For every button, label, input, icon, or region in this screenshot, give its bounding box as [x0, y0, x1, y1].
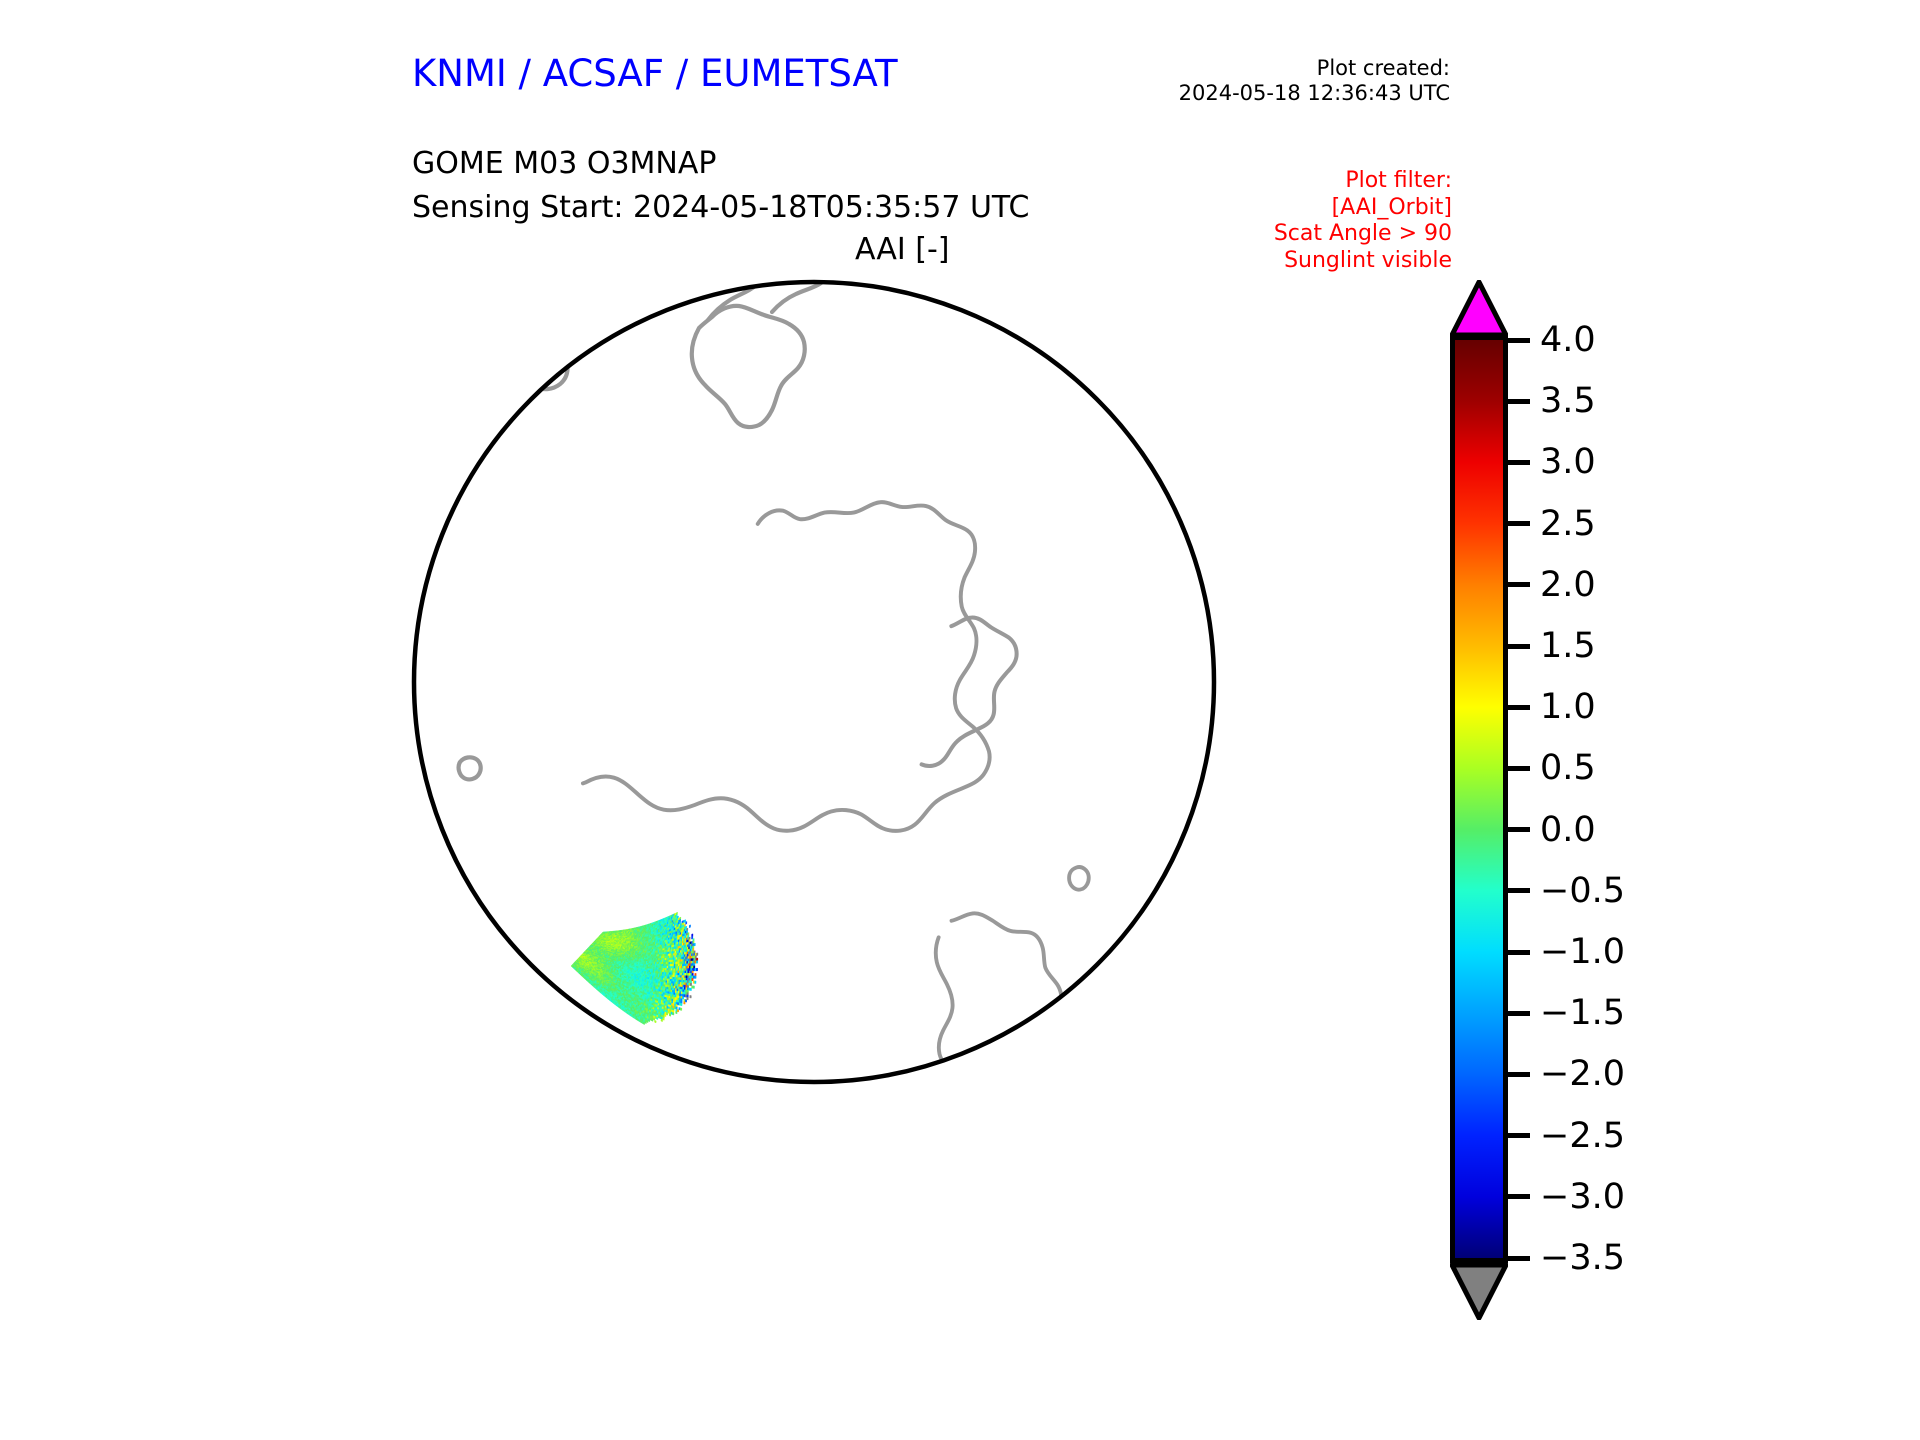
swath-pixel	[689, 925, 690, 928]
swath-pixel	[672, 1012, 674, 1015]
swath-pixel	[692, 978, 694, 981]
swath-pixel	[690, 983, 692, 986]
plot-created-block: Plot created: 2024-05-18 12:36:43 UTC	[1179, 56, 1450, 106]
colorbar-gradient-bar	[1450, 335, 1508, 1263]
swath-pixel	[677, 1009, 679, 1012]
swath-pixel	[669, 1014, 671, 1017]
polar-map	[408, 276, 1220, 1088]
coastline-new-zealand-north-tip	[772, 270, 831, 312]
colorbar-tick	[1508, 521, 1530, 526]
colorbar: 4.03.53.02.52.01.51.00.50.0−0.5−1.0−1.5−…	[1440, 280, 1870, 1310]
plot-filter-line-1: Plot filter:	[1274, 168, 1452, 195]
colorbar-tick	[1508, 1133, 1530, 1138]
colorbar-tick-label: 1.0	[1540, 687, 1596, 727]
coastline-antarctic-peninsula	[922, 618, 1017, 766]
coastline-new-zealand-south-body	[692, 306, 805, 427]
colorbar-tick	[1508, 338, 1530, 343]
swath-pixel	[654, 1020, 656, 1023]
swath-pixel	[682, 997, 684, 1000]
coastline-south-georgia	[1069, 867, 1089, 890]
swath-pixel	[695, 973, 696, 976]
colorbar-tick	[1508, 1072, 1530, 1077]
colorbar-over-range-arrow-outline	[1450, 280, 1508, 337]
colorbar-tick	[1508, 950, 1530, 955]
swath-pixel	[696, 958, 697, 961]
swath-pixel	[697, 953, 698, 956]
coastline-tierra-del-fuego	[941, 1097, 987, 1142]
plot-filter-line-4: Sunglint visible	[1274, 248, 1452, 275]
colorbar-gradient	[1455, 340, 1503, 1258]
colorbar-tick-label: 3.0	[1540, 442, 1596, 482]
swath-pixel	[651, 1019, 653, 1022]
swath-pixel	[696, 968, 697, 971]
colorbar-tick-label: −1.5	[1540, 993, 1625, 1033]
colorbar-tick-label: −1.0	[1540, 932, 1625, 972]
colorbar-under-range-arrow-outline	[1450, 1262, 1508, 1320]
page-title: KNMI / ACSAF / EUMETSAT	[412, 52, 898, 95]
colorbar-tick-label: 1.5	[1540, 626, 1596, 666]
swath-pixel	[666, 1013, 668, 1016]
coastline-falklands	[1022, 1104, 1058, 1141]
swath-pixel	[694, 951, 695, 954]
colorbar-tick	[1508, 582, 1530, 587]
colorbar-tick	[1508, 1011, 1530, 1016]
colorbar-tick	[1508, 460, 1530, 465]
swath-pixel	[690, 995, 692, 998]
swath-pixel	[694, 963, 695, 966]
plot-created-value: 2024-05-18 12:36:43 UTC	[1179, 81, 1450, 106]
swath-pixel	[664, 1014, 666, 1017]
swath-pixel	[684, 1002, 686, 1005]
swath-pixel	[661, 1019, 663, 1022]
colorbar-tick-label: −2.0	[1540, 1054, 1625, 1094]
plot-filter-line-3: Scat Angle > 90	[1274, 221, 1452, 248]
instrument-line: GOME M03 O3MNAP	[412, 142, 1029, 186]
coastline-south-america	[952, 913, 1062, 1065]
swath-pixel	[663, 1018, 665, 1021]
map-boundary-circle	[414, 282, 1214, 1082]
plot-filter-line-2: [AAI_Orbit]	[1274, 195, 1452, 222]
plot-created-label: Plot created:	[1179, 56, 1450, 81]
swath-pixel	[680, 1008, 682, 1011]
swath-pixel	[690, 988, 692, 991]
colorbar-tick-label: −3.5	[1540, 1238, 1625, 1278]
coastline-island-small	[459, 757, 481, 779]
colorbar-tick	[1508, 766, 1530, 771]
colorbar-tick	[1508, 1256, 1530, 1261]
coastlines-layer	[459, 270, 1089, 1142]
swath-pixel	[696, 961, 697, 964]
swath-pixel	[676, 1011, 678, 1014]
swath-pixel	[686, 921, 687, 924]
quantity-label: AAI [-]	[855, 232, 950, 267]
plot-filter-block: Plot filter: [AAI_Orbit] Scat Angle > 90…	[1274, 168, 1452, 274]
colorbar-tick-label: −2.5	[1540, 1116, 1625, 1156]
colorbar-tick-label: −0.5	[1540, 871, 1625, 911]
swath-pixel	[694, 943, 695, 946]
swath-pixel	[695, 976, 696, 979]
colorbar-tick	[1508, 1194, 1530, 1199]
swath-pixel	[648, 1019, 650, 1022]
product-info-block: GOME M03 O3MNAP Sensing Start: 2024-05-1…	[412, 142, 1029, 230]
colorbar-tick	[1508, 399, 1530, 404]
swath-pixel	[681, 1003, 683, 1006]
coastline-antarctica	[583, 502, 990, 831]
swath-pixel	[695, 981, 697, 984]
colorbar-tick-label: −3.0	[1540, 1177, 1625, 1217]
swath-pixel	[685, 999, 687, 1002]
swath-pixel	[693, 986, 695, 989]
colorbar-tick-label: 0.0	[1540, 810, 1596, 850]
colorbar-tick-label: 0.5	[1540, 748, 1596, 788]
sensing-start-line: Sensing Start: 2024-05-18T05:35:57 UTC	[412, 186, 1029, 230]
colorbar-tick	[1508, 827, 1530, 832]
colorbar-tick-label: 2.5	[1540, 504, 1596, 544]
swath-pixel	[690, 981, 692, 984]
swath-pixel	[656, 1017, 658, 1020]
colorbar-tick	[1508, 888, 1530, 893]
aai-data-swath	[571, 912, 698, 1024]
swath-pixel	[695, 956, 696, 959]
coastline-islet-topleft	[496, 302, 522, 323]
colorbar-tick-label: 3.5	[1540, 381, 1596, 421]
colorbar-tick	[1508, 705, 1530, 710]
swath-pixel	[693, 966, 694, 969]
swath-pixel	[687, 985, 689, 988]
colorbar-tick-label: 4.0	[1540, 320, 1596, 360]
coastline-south-america-west	[936, 937, 962, 1091]
swath-pixel	[687, 997, 689, 1000]
colorbar-tick	[1508, 644, 1530, 649]
colorbar-tick-label: 2.0	[1540, 565, 1596, 605]
swath-pixel	[692, 971, 693, 973]
swath-pixel	[653, 1018, 655, 1021]
map-svg	[408, 276, 1220, 1088]
swath-pixel	[692, 973, 693, 976]
